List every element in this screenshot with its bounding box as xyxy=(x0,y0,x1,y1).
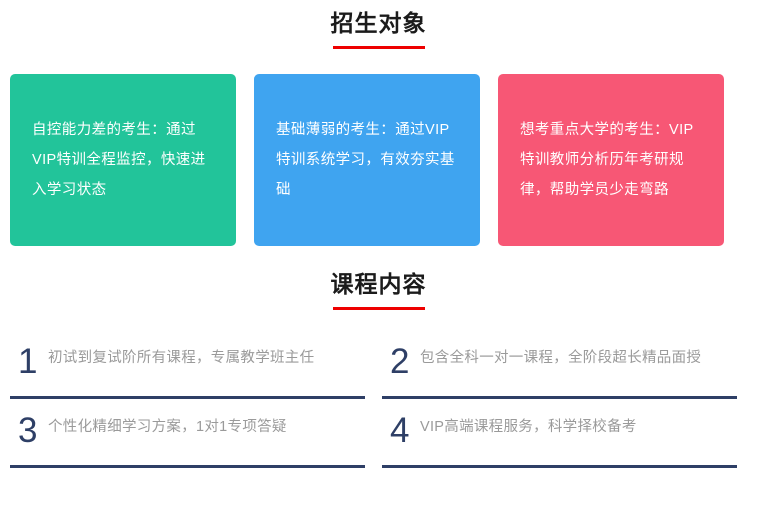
course-item-number: 3 xyxy=(10,410,48,452)
course-item-text: 个性化精细学习方案，1对1专项答疑 xyxy=(48,410,287,442)
course-item[interactable]: 2 包含全科一对一课程，全阶段超长精品面授 xyxy=(382,330,737,399)
course-item-number: 2 xyxy=(382,341,420,383)
audience-card-text: 想考重点大学的考生：VIP特训教师分析历年考研规律，帮助学员少走弯路 xyxy=(520,115,702,205)
course-item[interactable]: 4 VIP高端课程服务，科学择校备考 xyxy=(382,399,737,468)
course-item-number: 4 xyxy=(382,410,420,452)
course-item-text: VIP高端课程服务，科学择校备考 xyxy=(420,410,637,442)
course-heading-underline xyxy=(333,307,425,310)
course-item-number: 1 xyxy=(10,341,48,383)
page-root: 招生对象 自控能力差的考生：通过VIP特训全程监控，快速进入学习状态 基础薄弱的… xyxy=(0,0,757,525)
audience-card-key-university[interactable]: 想考重点大学的考生：VIP特训教师分析历年考研规律，帮助学员少走弯路 xyxy=(498,74,724,246)
course-item[interactable]: 3 个性化精细学习方案，1对1专项答疑 xyxy=(10,399,365,468)
course-item-text: 初试到复试阶所有课程，专属教学班主任 xyxy=(48,341,314,373)
audience-card-self-control[interactable]: 自控能力差的考生：通过VIP特训全程监控，快速进入学习状态 xyxy=(10,74,236,246)
audience-card-weak-foundation[interactable]: 基础薄弱的考生：通过VIP特训系统学习，有效夯实基础 xyxy=(254,74,480,246)
course-item[interactable]: 1 初试到复试阶所有课程，专属教学班主任 xyxy=(10,330,365,399)
course-heading-text: 课程内容 xyxy=(0,273,757,296)
admission-heading-text: 招生对象 xyxy=(0,12,757,35)
admission-heading-underline xyxy=(333,46,425,49)
audience-card-text: 基础薄弱的考生：通过VIP特训系统学习，有效夯实基础 xyxy=(276,115,458,205)
course-item-list: 1 初试到复试阶所有课程，专属教学班主任 2 包含全科一对一课程，全阶段超长精品… xyxy=(10,330,747,468)
course-section-heading: 课程内容 xyxy=(0,273,757,310)
course-item-text: 包含全科一对一课程，全阶段超长精品面授 xyxy=(420,341,701,373)
audience-card-text: 自控能力差的考生：通过VIP特训全程监控，快速进入学习状态 xyxy=(32,115,214,205)
audience-card-list: 自控能力差的考生：通过VIP特训全程监控，快速进入学习状态 基础薄弱的考生：通过… xyxy=(10,74,724,246)
admission-section-heading: 招生对象 xyxy=(0,12,757,49)
